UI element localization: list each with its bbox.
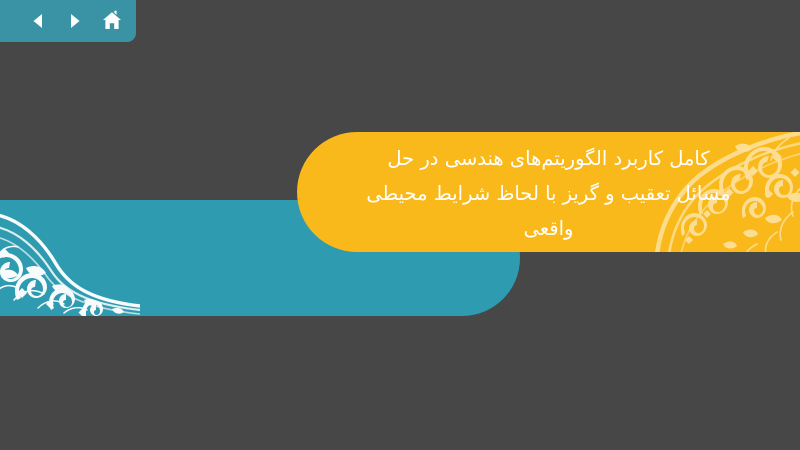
triangle-right-icon <box>65 11 85 31</box>
home-icon <box>101 10 123 32</box>
title-banner <box>297 132 800 252</box>
previous-button[interactable] <box>26 9 50 33</box>
orange-arabesque-ornament-icon <box>617 132 800 252</box>
slide-canvas: کامل کاربرد الگوریتم‌های هندسی در حل مسا… <box>0 0 800 450</box>
home-button[interactable] <box>100 9 124 33</box>
teal-arabesque-ornament-icon <box>0 200 140 316</box>
triangle-left-icon <box>28 11 48 31</box>
next-button[interactable] <box>63 9 87 33</box>
navigation-bar <box>0 0 136 42</box>
